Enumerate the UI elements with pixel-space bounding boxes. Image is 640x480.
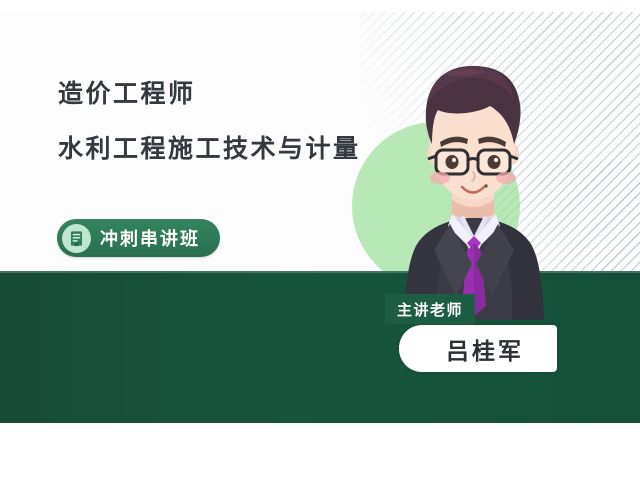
teacher-name-card: 吕桂军 [399, 325, 557, 372]
letterbox-top [0, 0, 640, 12]
teacher-portrait-illustration [378, 50, 568, 320]
teacher-name: 吕桂军 [432, 332, 524, 366]
teacher-role-tag: 主讲老师 [385, 294, 475, 324]
cover-canvas: 造价工程师 水利工程施工技术与计量 冲刺串讲班 [0, 12, 640, 428]
page-subtitle: 水利工程施工技术与计量 [58, 135, 361, 164]
page-title: 造价工程师 [58, 80, 361, 109]
course-cover-thumbnail: 造价工程师 水利工程施工技术与计量 冲刺串讲班 [0, 0, 640, 480]
letterbox-bottom [0, 428, 640, 480]
book-icon [62, 224, 91, 253]
teacher-role-label: 主讲老师 [397, 299, 463, 320]
title-block: 造价工程师 水利工程施工技术与计量 [58, 80, 361, 164]
course-type-badge-label: 冲刺串讲班 [100, 225, 200, 251]
course-type-badge: 冲刺串讲班 [57, 219, 220, 257]
